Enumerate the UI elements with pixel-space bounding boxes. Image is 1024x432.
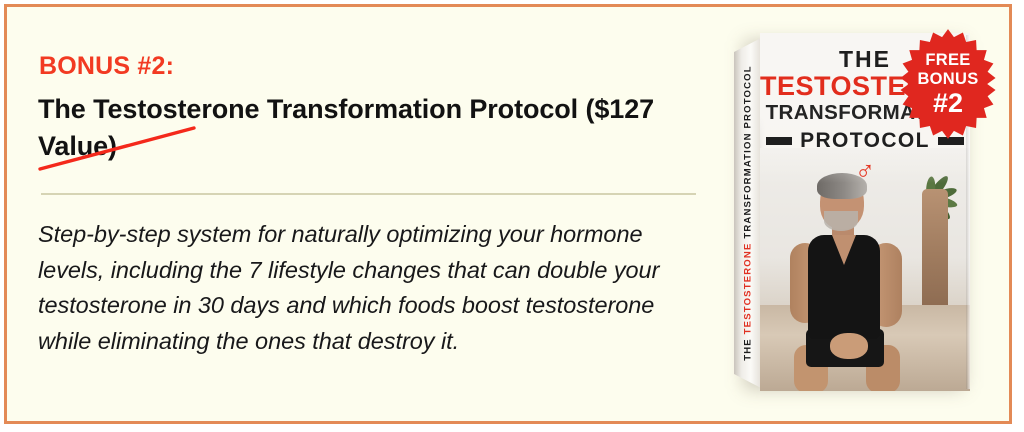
badge-line-number: #2: [933, 90, 963, 117]
figure-beard: [824, 211, 858, 231]
bonus-kicker-label: BONUS #2:: [39, 54, 174, 79]
figure-hands: [830, 333, 868, 359]
book-spine: THE TESTOSTERONE TRANSFORMATION PROTOCOL: [734, 38, 761, 388]
bonus-offer-panel: BONUS #2: The Testosterone Transformatio…: [4, 4, 1012, 424]
section-divider: [41, 193, 696, 195]
spine-text-the: THE: [742, 334, 753, 360]
badge-line-free: FREE: [925, 52, 970, 69]
offer-title: The Testosterone Transformation Protocol…: [38, 91, 684, 166]
seated-man-figure: [774, 177, 924, 391]
spine-text-rest: TRANSFORMATION PROTOCOL: [742, 65, 753, 242]
product-image: THE TESTOSTERONE TRANSFORMATION PROTOCOL: [707, 7, 1012, 424]
mars-symbol-icon: ♂: [760, 157, 970, 184]
spine-text-testosterone: TESTOSTERONE: [742, 243, 753, 335]
badge-text-block: FREE BONUS #2: [892, 28, 1004, 140]
offer-title-line-1: The Testosterone Transformation Protocol: [38, 94, 578, 124]
offer-description: Step-by-step system for naturally optimi…: [38, 217, 672, 360]
palm-trunk-icon: [922, 189, 948, 307]
free-bonus-badge: FREE BONUS #2: [892, 28, 1004, 140]
badge-line-bonus: BONUS: [917, 71, 978, 88]
offer-copy-column: BONUS #2: The Testosterone Transformatio…: [36, 7, 696, 421]
cover-dash-left-icon: [766, 137, 792, 145]
book-spine-text: THE TESTOSTERONE TRANSFORMATION PROTOCOL: [742, 65, 753, 361]
